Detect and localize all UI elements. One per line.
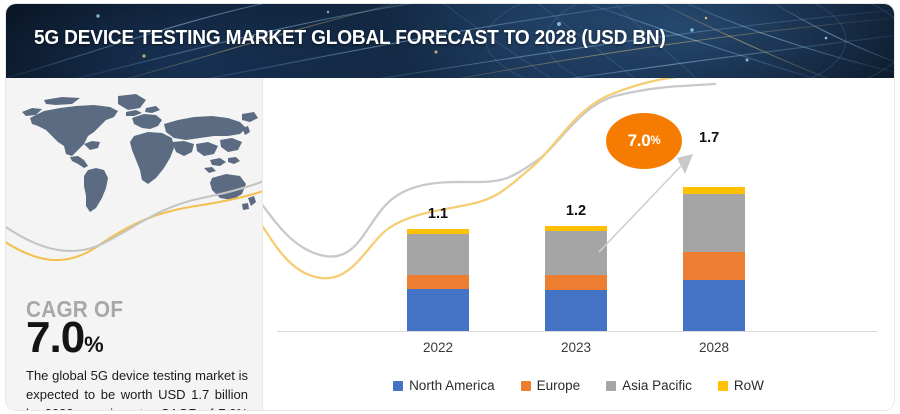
axis-tick-2028: 2028: [669, 340, 759, 355]
chart-panel: 1.1 2022 1.2 2023 2028: [263, 78, 894, 410]
legend-item-europe[interactable]: Europe: [521, 378, 581, 393]
bar-segment-europe-2022: [407, 275, 469, 289]
decorative-curves-left: [6, 176, 262, 266]
category-axis-line: [277, 331, 877, 332]
legend-swatch-north-america: [393, 381, 403, 391]
chart-legend: North America Europe Asia Pacific RoW: [263, 378, 894, 393]
cagr-number: 7.0: [26, 313, 84, 362]
axis-tick-2023: 2023: [531, 340, 621, 355]
legend-item-asia-pacific[interactable]: Asia Pacific: [606, 378, 692, 393]
infographic-card: 5G DEVICE TESTING MARKET GLOBAL FORECAST…: [6, 4, 894, 410]
legend-item-row[interactable]: RoW: [718, 378, 764, 393]
bar-segment-north-america-2022: [407, 289, 469, 331]
legend-swatch-row: [718, 381, 728, 391]
cagr-badge-value: 7.0: [628, 131, 651, 151]
summary-description: The global 5G device testing market is e…: [26, 366, 248, 410]
bar-segment-north-america-2028: [683, 280, 745, 331]
bar-segment-north-america-2023: [545, 290, 607, 331]
bar-segment-europe-2023: [545, 275, 607, 290]
bar-2022[interactable]: [407, 229, 469, 331]
bar-segment-asia-pacific-2022: [407, 234, 469, 275]
legend-label-asia-pacific: Asia Pacific: [622, 378, 692, 393]
left-summary-panel: CAGR OF 7.0% The global 5G device testin…: [6, 78, 263, 410]
legend-label-europe: Europe: [537, 378, 581, 393]
legend-swatch-europe: [521, 381, 531, 391]
cagr-value: 7.0%: [26, 316, 104, 367]
axis-tick-2022: 2022: [393, 340, 483, 355]
cagr-percent-symbol: %: [84, 332, 104, 357]
header-banner: 5G DEVICE TESTING MARKET GLOBAL FORECAST…: [6, 4, 894, 78]
plot-region: 1.1 2022 1.2 2023 2028: [263, 78, 894, 410]
bar-total-label-2028: 1.7: [699, 130, 719, 146]
infographic-page: 5G DEVICE TESTING MARKET GLOBAL FORECAST…: [0, 0, 900, 414]
cagr-badge-percent: %: [650, 135, 660, 147]
legend-item-north-america[interactable]: North America: [393, 378, 495, 393]
legend-label-north-america: North America: [409, 378, 495, 393]
legend-swatch-asia-pacific: [606, 381, 616, 391]
page-title: 5G DEVICE TESTING MARKET GLOBAL FORECAST…: [34, 26, 666, 50]
cagr-badge: 7.0%: [606, 113, 682, 169]
legend-label-row: RoW: [734, 378, 764, 393]
bar-total-label-2022: 1.1: [407, 206, 469, 222]
